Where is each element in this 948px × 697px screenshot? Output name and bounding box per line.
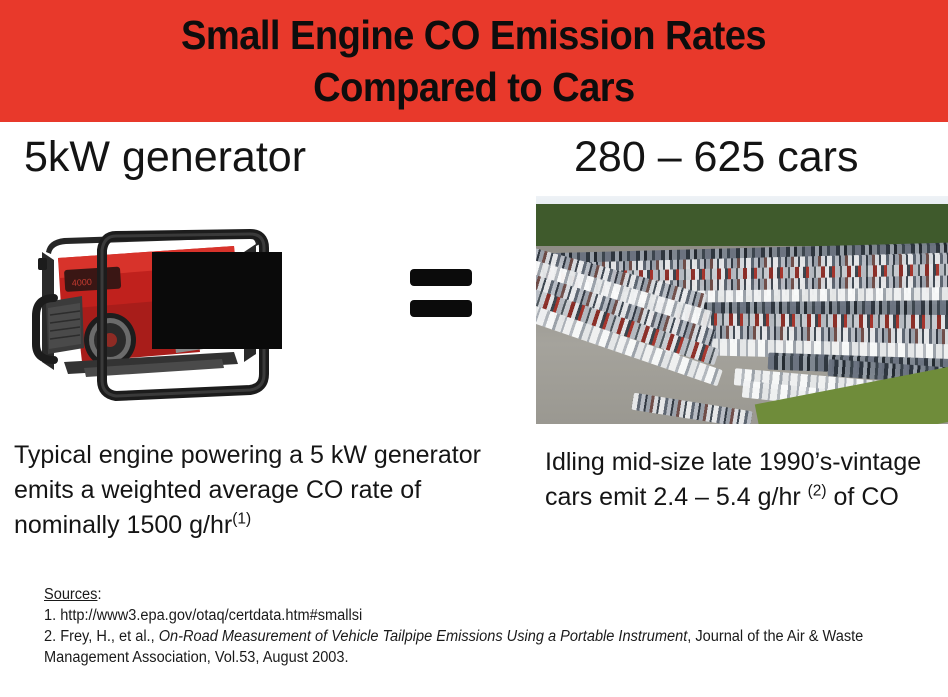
sources-label: Sources <box>44 586 97 603</box>
left-column-body: Typical engine powering a 5 kW generator… <box>14 438 514 543</box>
sources-block: Sources: 1. http://www3.epa.gov/otaq/cer… <box>44 584 881 668</box>
title-line-1: Small Engine CO Emission Rates <box>181 9 766 61</box>
equals-sign-icon <box>410 262 472 328</box>
right-body-footnote: (2) <box>808 483 827 500</box>
right-column-body: Idling mid-size late 1990’s-vintage cars… <box>545 445 945 515</box>
sources-label-colon: : <box>97 586 101 603</box>
sources-label-line: Sources: <box>44 584 881 605</box>
source-item-2-prefix: 2. Frey, H., et al., <box>44 628 159 645</box>
slide-root: Small Engine CO Emission Rates Compared … <box>0 0 948 697</box>
left-body-footnote: (1) <box>232 511 251 528</box>
source-item-1[interactable]: 1. http://www3.epa.gov/otaq/certdata.htm… <box>44 605 881 626</box>
source-item-1-text: 1. http://www3.epa.gov/otaq/certdata.htm… <box>44 607 362 624</box>
right-body-text-b: of CO <box>827 483 899 511</box>
title-line-2: Compared to Cars <box>313 61 635 113</box>
source-item-2: 2. Frey, H., et al., On-Road Measurement… <box>44 626 881 668</box>
right-column-heading: 280 – 625 cars <box>574 132 858 182</box>
source-item-2-title: On-Road Measurement of Vehicle Tailpipe … <box>159 628 688 645</box>
left-column-heading: 5kW generator <box>24 132 306 182</box>
tree-line <box>536 204 948 250</box>
parking-lot-photo <box>536 196 948 424</box>
generator-image: 4000 <box>24 212 286 417</box>
svg-text:4000: 4000 <box>72 277 93 288</box>
title-banner: Small Engine CO Emission Rates Compared … <box>0 0 948 122</box>
redaction-rectangle <box>152 252 282 349</box>
